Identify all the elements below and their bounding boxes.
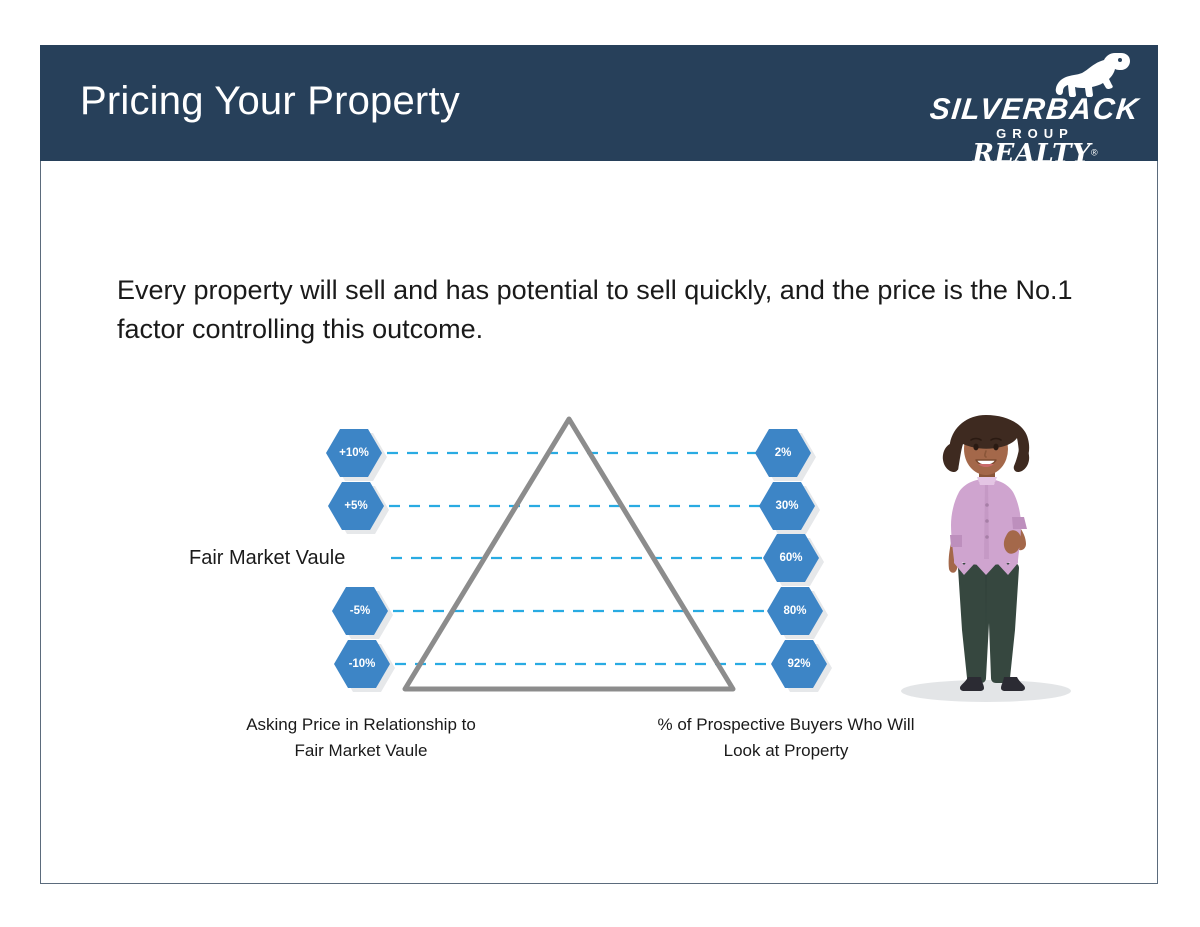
buyers-hex-60[interactable]: 60%	[763, 533, 819, 583]
price-hex-minus10[interactable]: -10%	[334, 639, 390, 689]
caption-left-line2: Fair Market Vaule	[216, 738, 506, 764]
buyers-hex-2[interactable]: 2%	[755, 428, 811, 478]
caption-right: % of Prospective Buyers Who Will Look at…	[631, 712, 941, 763]
price-hex-plus5[interactable]: +5%	[328, 481, 384, 531]
slide-header-bar: Pricing Your Property SILVERBACK GROUP R…	[40, 45, 1158, 161]
logo-wordmark-silverback: SILVERBACK	[928, 95, 1141, 125]
buyers-hex-30[interactable]: 30%	[759, 481, 815, 531]
brand-logo: SILVERBACK GROUP REALTY®	[930, 51, 1140, 159]
caption-left: Asking Price in Relationship to Fair Mar…	[216, 712, 506, 763]
slide-content-frame: Every property will sell and has potenti…	[40, 161, 1158, 884]
dashed-connector-lines	[41, 161, 1159, 884]
buyers-hex-92[interactable]: 92%	[771, 639, 827, 689]
caption-right-line2: Look at Property	[631, 738, 941, 764]
caption-left-line1: Asking Price in Relationship to	[216, 712, 506, 738]
buyers-hex-80[interactable]: 80%	[767, 586, 823, 636]
pyramid-triangle-icon	[381, 411, 761, 701]
caption-right-line1: % of Prospective Buyers Who Will	[631, 712, 941, 738]
page-title: Pricing Your Property	[80, 79, 460, 124]
standing-woman-illustration	[886, 413, 1086, 703]
slide: Pricing Your Property SILVERBACK GROUP R…	[40, 45, 1158, 884]
fair-market-value-label: Fair Market Vaule	[189, 547, 345, 570]
price-hex-minus5[interactable]: -5%	[332, 586, 388, 636]
gorilla-icon	[1052, 51, 1136, 97]
pricing-pyramid-diagram: +10% +5% Fair Market Vaule -5% -10% 2% 3…	[41, 161, 1159, 884]
body-paragraph: Every property will sell and has potenti…	[117, 271, 1077, 349]
price-hex-plus10[interactable]: +10%	[326, 428, 382, 478]
registered-trademark-icon: ®	[1091, 148, 1098, 158]
